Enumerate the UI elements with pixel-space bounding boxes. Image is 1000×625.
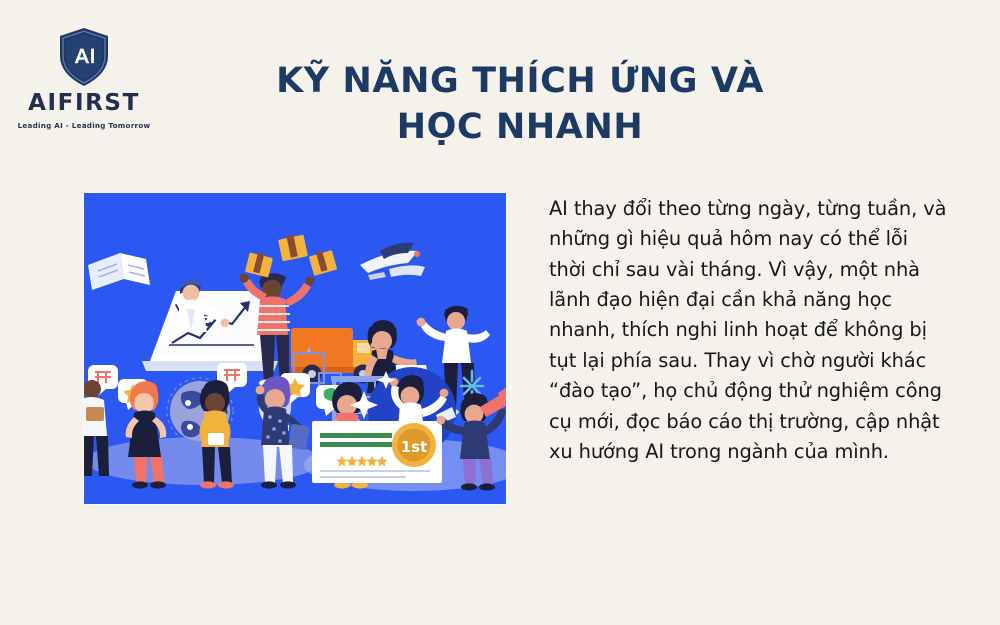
brand-wordmark: AIFIRST bbox=[14, 92, 154, 115]
brand-logo: AIFIRST Leading AI - Leading Tomorrow bbox=[14, 26, 154, 129]
page-title-line-1: KỸ NĂNG THÍCH ỨNG VÀ bbox=[200, 58, 840, 104]
slide-canvas: AIFIRST Leading AI - Leading Tomorrow KỸ… bbox=[0, 0, 1000, 625]
body-paragraph: AI thay đổi theo từng ngày, từng tuần, v… bbox=[549, 194, 949, 467]
shield-ai-icon bbox=[56, 26, 112, 88]
illustration-graphic: € bbox=[84, 193, 506, 504]
svg-text:1st: 1st bbox=[401, 438, 428, 456]
brand-tagline: Leading AI - Leading Tomorrow bbox=[14, 122, 154, 129]
illustration-panel: € bbox=[84, 193, 506, 504]
page-title-line-2: HỌC NHANH bbox=[200, 104, 840, 150]
page-title: KỸ NĂNG THÍCH ỨNG VÀ HỌC NHANH bbox=[200, 58, 840, 150]
